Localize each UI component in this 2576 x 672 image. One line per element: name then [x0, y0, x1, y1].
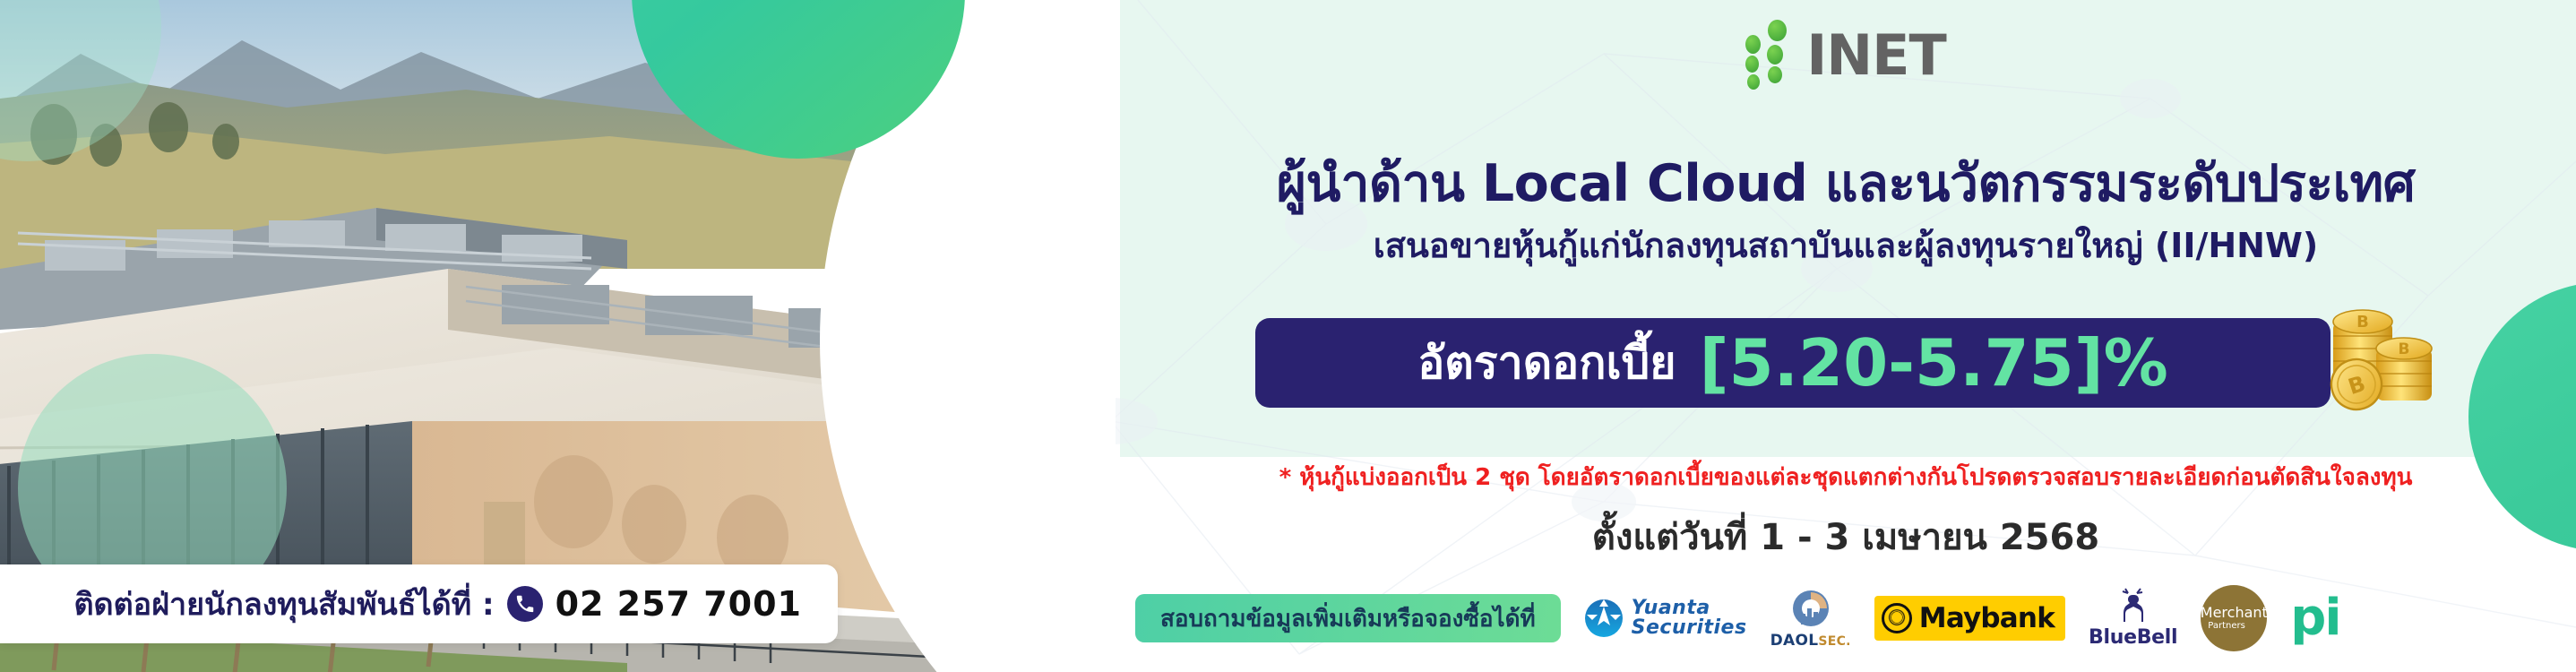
subheadline: เสนอขายหุ้นกู้แก่นักลงทุนสถาบันและผู้ลงท… — [1116, 218, 2576, 272]
partner-logo-yuanta[interactable]: Yuanta Securities — [1584, 599, 1747, 638]
svg-text:B: B — [2356, 313, 2369, 332]
disclaimer-note: * หุ้นกู้แบ่งออกเป็น 2 ชุด โดยอัตราดอกเบ… — [1116, 459, 2576, 495]
content-column: INET ผู้นำด้าน Local Cloud และนวัตกรรมระ… — [1116, 0, 2576, 672]
headline: ผู้นำด้าน Local Cloud และนวัตกรรมระดับปร… — [1116, 143, 2576, 224]
inet-wordmark: INET — [1806, 33, 1946, 79]
green-dots-icon — [1745, 20, 1797, 79]
yuanta-wordmark: Yuanta Securities — [1632, 599, 1747, 638]
maybank-wordmark: Maybank — [1919, 602, 2055, 634]
partner-logo-merchant-partners[interactable]: Merchant Partners — [2201, 585, 2267, 651]
daol-suffix: SEC. — [1818, 634, 1850, 649]
interest-rate-label: อัตราดอกเบี้ย — [1417, 328, 1676, 399]
yuanta-line-1: Yuanta — [1632, 599, 1747, 618]
yuanta-star-icon — [1584, 599, 1624, 638]
daol-pie-icon — [1789, 587, 1832, 630]
inet-logo: INET — [1116, 20, 2576, 79]
gold-coins-icon: B B B — [2317, 284, 2460, 418]
investor-relations-contact-box[interactable]: ติดต่อฝ่ายนักลงทุนสัมพันธ์ได้ที่ : 02 25… — [0, 564, 838, 643]
bluebell-stag-icon — [2115, 588, 2151, 624]
partner-logo-bluebell[interactable]: BlueBell — [2089, 588, 2177, 649]
promo-banner: ติดต่อฝ่ายนักลงทุนสัมพันธ์ได้ที่ : 02 25… — [0, 0, 2576, 672]
contact-label: ติดต่อฝ่ายนักลงทุนสัมพันธ์ได้ที่ : — [73, 580, 494, 628]
phone-icon — [507, 586, 543, 622]
merchant-line-1: Merchant — [2201, 606, 2268, 620]
inquiry-cta-button[interactable]: สอบถามข้อมูลเพิ่มเติมหรือจองซื้อได้ที่ — [1135, 594, 1561, 642]
daol-wordmark: DAOLSEC. — [1770, 632, 1851, 650]
offer-period: ตั้งแต่วันที่ 1 - 3 เมษายน 2568 — [1116, 508, 2576, 565]
contact-phone-number[interactable]: 02 257 7001 — [556, 584, 802, 624]
partner-logo-pi[interactable]: pi — [2290, 599, 2339, 639]
partner-logo-daol[interactable]: DAOLSEC. — [1770, 587, 1851, 650]
yuanta-line-2: Securities — [1632, 618, 1747, 638]
interest-rate-value: [5.20-5.75]% — [1700, 331, 2168, 395]
partner-logo-maybank[interactable]: Maybank — [1874, 596, 2065, 641]
daol-name: DAOL — [1770, 632, 1819, 650]
merchant-line-2: Partners — [2201, 622, 2245, 631]
pi-wordmark: pi — [2290, 599, 2339, 639]
svg-text:B: B — [2399, 340, 2410, 358]
interest-rate-badge: อัตราดอกเบี้ย [5.20-5.75]% — [1255, 318, 2330, 408]
partners-row: สอบถามข้อมูลเพิ่มเติมหรือจองซื้อได้ที่ Y… — [1116, 582, 2576, 654]
maybank-tiger-icon — [1882, 603, 1912, 633]
bluebell-wordmark: BlueBell — [2089, 626, 2177, 649]
